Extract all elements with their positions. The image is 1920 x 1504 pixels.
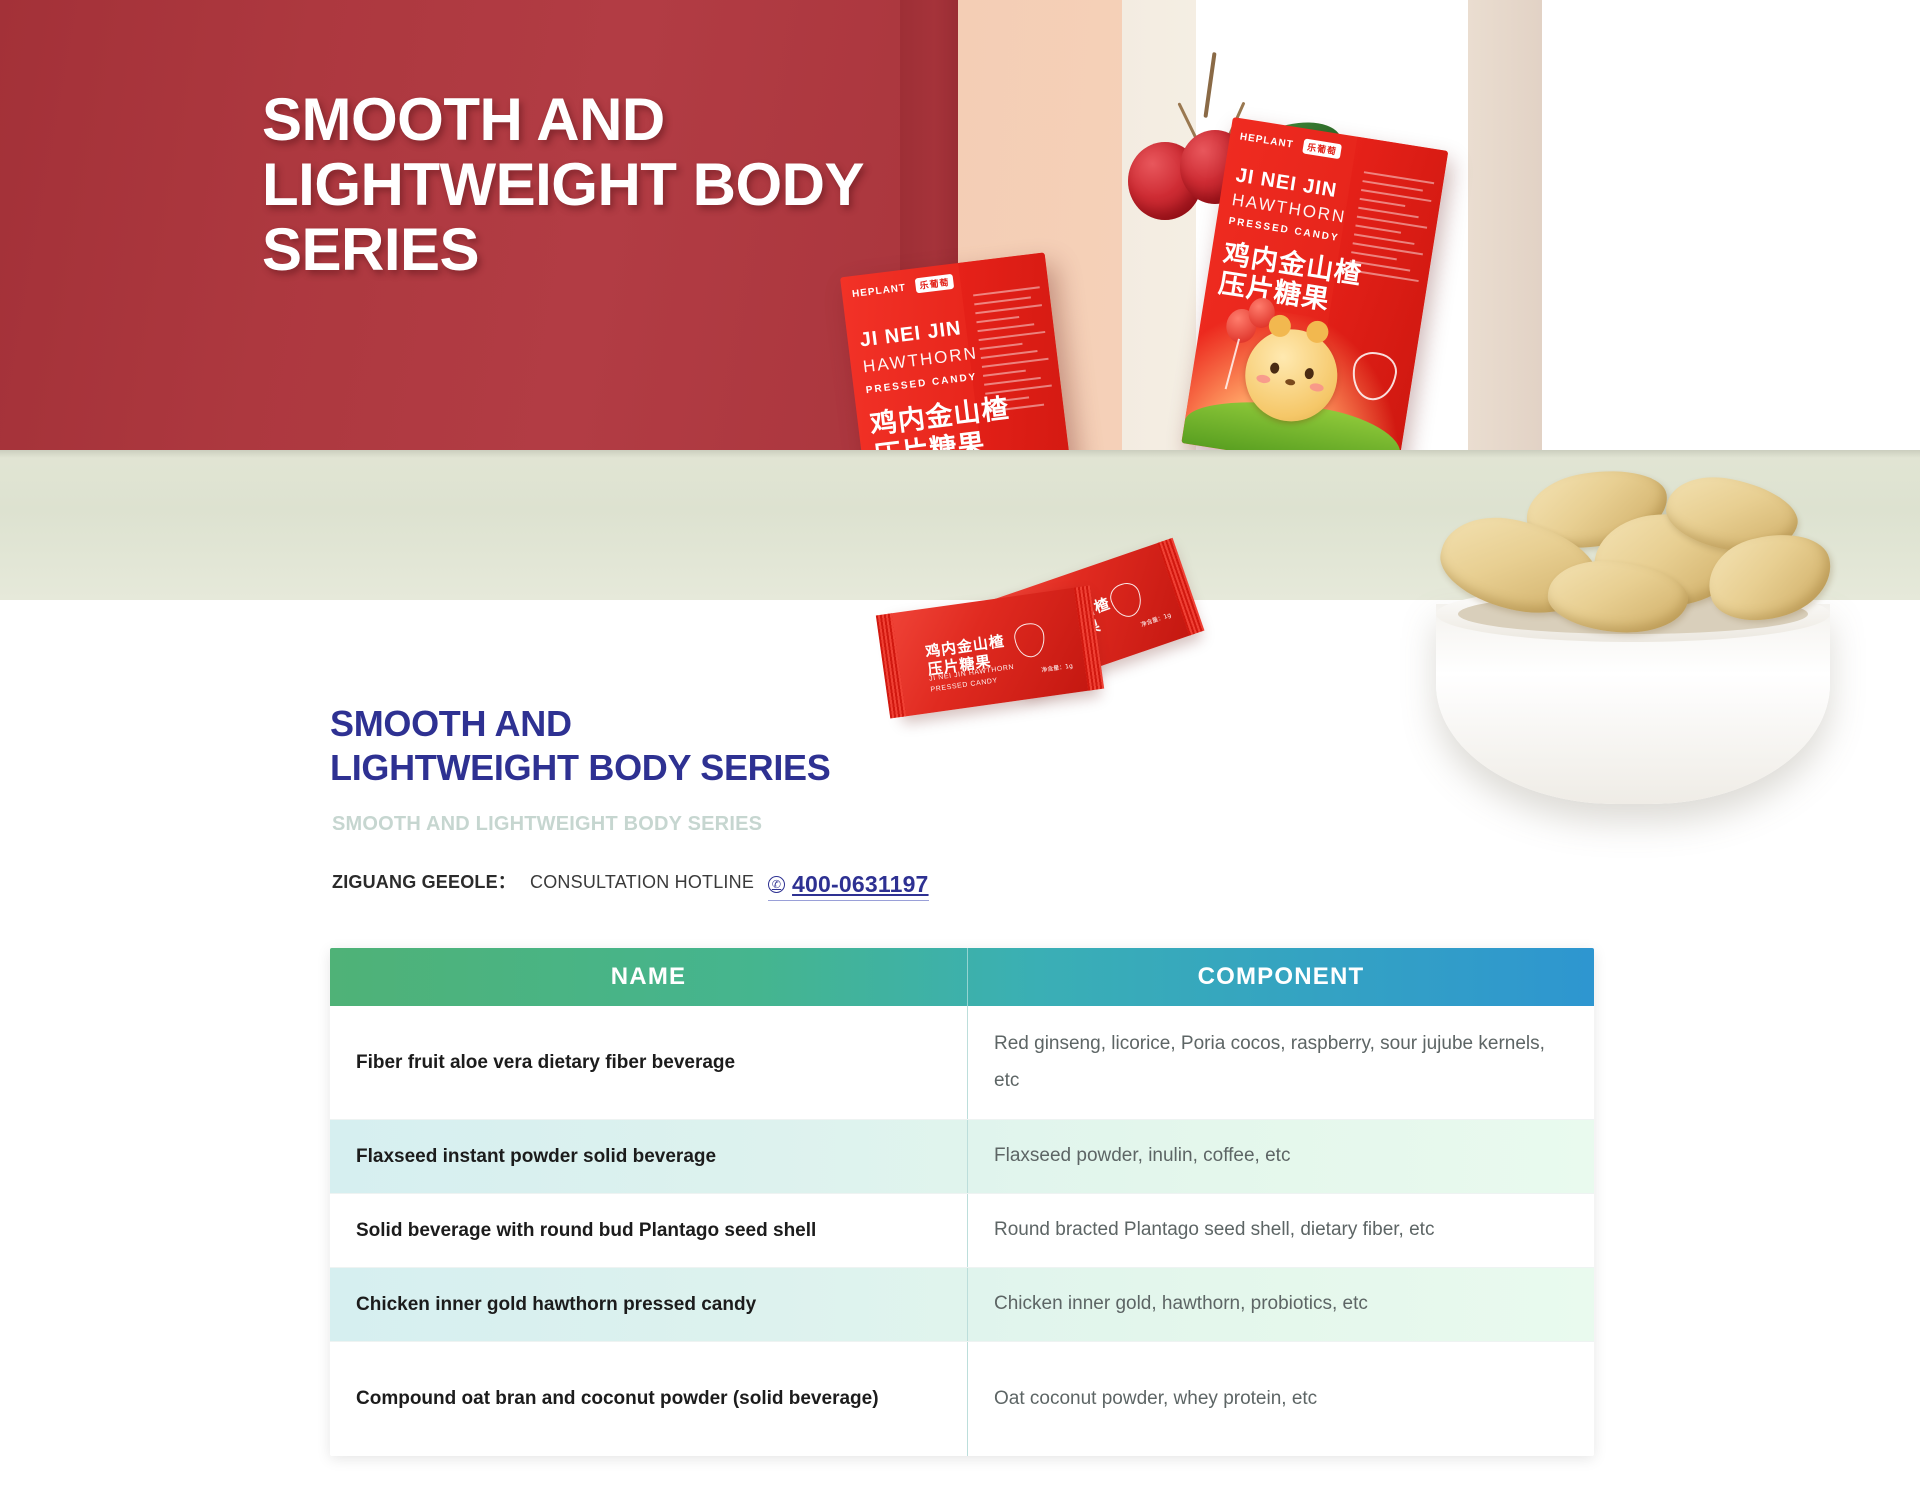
- section-title: SMOOTH AND LIGHTWEIGHT BODY SERIES: [330, 702, 1090, 790]
- table-cell-component: Chicken inner gold, hawthorn, probiotics…: [968, 1268, 1594, 1341]
- package-brand: HEPLANT 乐葡萄: [851, 274, 954, 301]
- table-row: Solid beverage with round bud Plantago s…: [330, 1194, 1594, 1268]
- hero-floor-shadow: [0, 450, 1920, 458]
- sachet-net-weight: 净含量：1g: [1139, 610, 1172, 629]
- package-name-en-3: PRESSED CANDY: [865, 372, 978, 397]
- package-brand-latin: HEPLANT: [1239, 131, 1294, 150]
- table-row: Fiber fruit aloe vera dietary fiber beve…: [330, 1006, 1594, 1120]
- table-row: Flaxseed instant powder solid beverage F…: [330, 1120, 1594, 1194]
- table-row: Compound oat bran and coconut powder (so…: [330, 1342, 1594, 1456]
- dried-fruit-pile: [1430, 470, 1840, 645]
- hero-title: SMOOTH AND LIGHTWEIGHT BODY SERIES: [262, 88, 882, 282]
- section-title-line-2: LIGHTWEIGHT BODY SERIES: [330, 746, 1090, 790]
- table-cell-component: Oat coconut powder, whey protein, etc: [968, 1342, 1594, 1456]
- sachet-seal-icon: [1013, 622, 1047, 660]
- hotline-label: CONSULTATION HOTLINE: [530, 872, 754, 893]
- package-brand-cn: 乐葡萄: [1302, 138, 1342, 159]
- candy-sachet-front: 鸡内金山楂压片糖果 JI NEI JIN HAWTHORN PRESSED CA…: [884, 587, 1097, 718]
- hotline-brand-label: ZIGUANG GEEOLE：: [332, 868, 516, 894]
- table-header-name: NAME: [330, 948, 968, 1006]
- table-cell-name: Solid beverage with round bud Plantago s…: [330, 1194, 968, 1267]
- table-cell-component: Round bracted Plantago seed shell, dieta…: [968, 1194, 1594, 1267]
- table-cell-name: Flaxseed instant powder solid beverage: [330, 1120, 968, 1193]
- hotline-number-link[interactable]: ✆ 400-0631197: [768, 871, 929, 901]
- table-cell-name: Chicken inner gold hawthorn pressed cand…: [330, 1268, 968, 1341]
- table-header-component: COMPONENT: [968, 948, 1594, 1006]
- table-cell-name: Fiber fruit aloe vera dietary fiber beve…: [330, 1006, 968, 1119]
- package-brand-cn: 乐葡萄: [915, 274, 955, 294]
- hotline-number: 400-0631197: [792, 871, 929, 898]
- advertisement-page: SMOOTH AND LIGHTWEIGHT BODY SERIES 广告 HE…: [0, 0, 1920, 1504]
- phone-icon: ✆: [768, 876, 785, 893]
- ingredients-table: NAME COMPONENT Fiber fruit aloe vera die…: [330, 948, 1594, 1456]
- table-row: Chicken inner gold hawthorn pressed cand…: [330, 1268, 1594, 1342]
- table-cell-component: Red ginseng, licorice, Poria cocos, rasp…: [968, 1006, 1594, 1119]
- ad-badge: 广告: [1828, 40, 1894, 84]
- table-header-row: NAME COMPONENT: [330, 948, 1594, 1006]
- sachet-net-weight: 净含量：1g: [1041, 661, 1074, 674]
- table-cell-component: Flaxseed powder, inulin, coffee, etc: [968, 1120, 1594, 1193]
- table-cell-name: Compound oat bran and coconut powder (so…: [330, 1342, 968, 1456]
- hotline-row: ZIGUANG GEEOLE： CONSULTATION HOTLINE ✆ 4…: [332, 868, 929, 901]
- package-brand: HEPLANT 乐葡萄: [1239, 128, 1342, 159]
- section-title-line-1: SMOOTH AND: [330, 702, 1090, 746]
- package-brand-latin: HEPLANT: [852, 283, 907, 301]
- section-subtitle: SMOOTH AND LIGHTWEIGHT BODY SERIES: [332, 813, 762, 836]
